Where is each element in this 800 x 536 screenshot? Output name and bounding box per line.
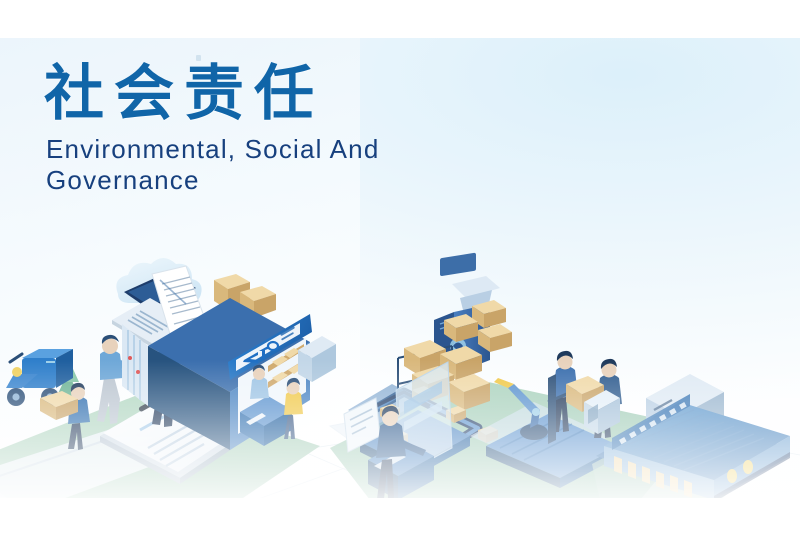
background-bottom-fade bbox=[0, 360, 800, 500]
esg-banner: 社会责任 Environmental, Social And Governanc… bbox=[0, 0, 800, 536]
page-subtitle-line1: Environmental, Social And bbox=[46, 134, 380, 164]
page-subtitle-english: Environmental, Social And Governance bbox=[46, 134, 380, 196]
title-block: 社会责任 Environmental, Social And Governanc… bbox=[44, 62, 380, 196]
page-title-chinese: 社会责任 bbox=[44, 62, 380, 126]
letterbox-bottom bbox=[0, 498, 800, 536]
letterbox-top bbox=[0, 0, 800, 38]
page-subtitle-line2: Governance bbox=[46, 165, 200, 195]
